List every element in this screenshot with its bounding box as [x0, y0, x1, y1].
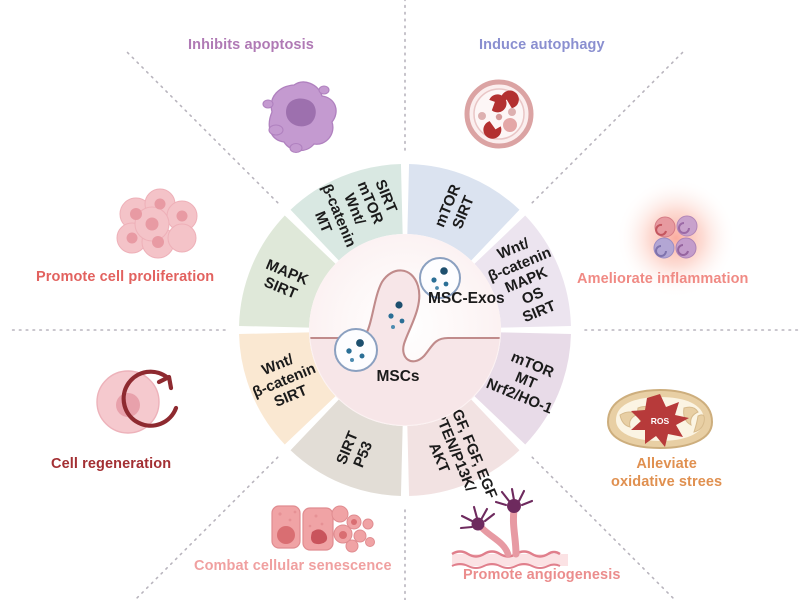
outcome-label-induce-autophagy[interactable]: Induce autophagy — [479, 36, 605, 54]
blood-vessel-sprout-icon — [452, 489, 568, 568]
autophagosome-cell-icon — [467, 82, 531, 146]
outcome-label-alleviate-oxidative-stress[interactable]: Alleviate oxidative strees — [611, 455, 722, 491]
outcome-label-promote-angiogenesis[interactable]: Promote angiogenesis — [463, 566, 621, 584]
outcome-label-ameliorate-inflammation[interactable]: Ameliorate inflammation — [577, 270, 749, 288]
ros-label: ROS — [651, 416, 670, 426]
outcome-label-cell-regeneration[interactable]: Cell regeneration — [51, 455, 171, 473]
proliferating-cells-icon — [117, 189, 197, 258]
senescent-cells-icon — [272, 506, 375, 552]
figure-root: mTORSIRTWnt/β-cateninMAPKOSSIRTmTORMTNrf… — [0, 0, 800, 600]
outcome-icons: ROS — [0, 0, 800, 600]
apoptotic-cell-icon — [263, 82, 336, 152]
cell-renewal-icon — [97, 371, 176, 433]
outcome-label-promote-cell-proliferation[interactable]: Promote cell proliferation — [36, 268, 214, 286]
outcome-label-combat-cellular-senescence[interactable]: Combat cellular senescence — [194, 557, 392, 575]
mitochondrion-ros-icon: ROS — [608, 390, 712, 448]
outcome-label-inhibits-apoptosis[interactable]: Inhibits apoptosis — [188, 36, 314, 54]
